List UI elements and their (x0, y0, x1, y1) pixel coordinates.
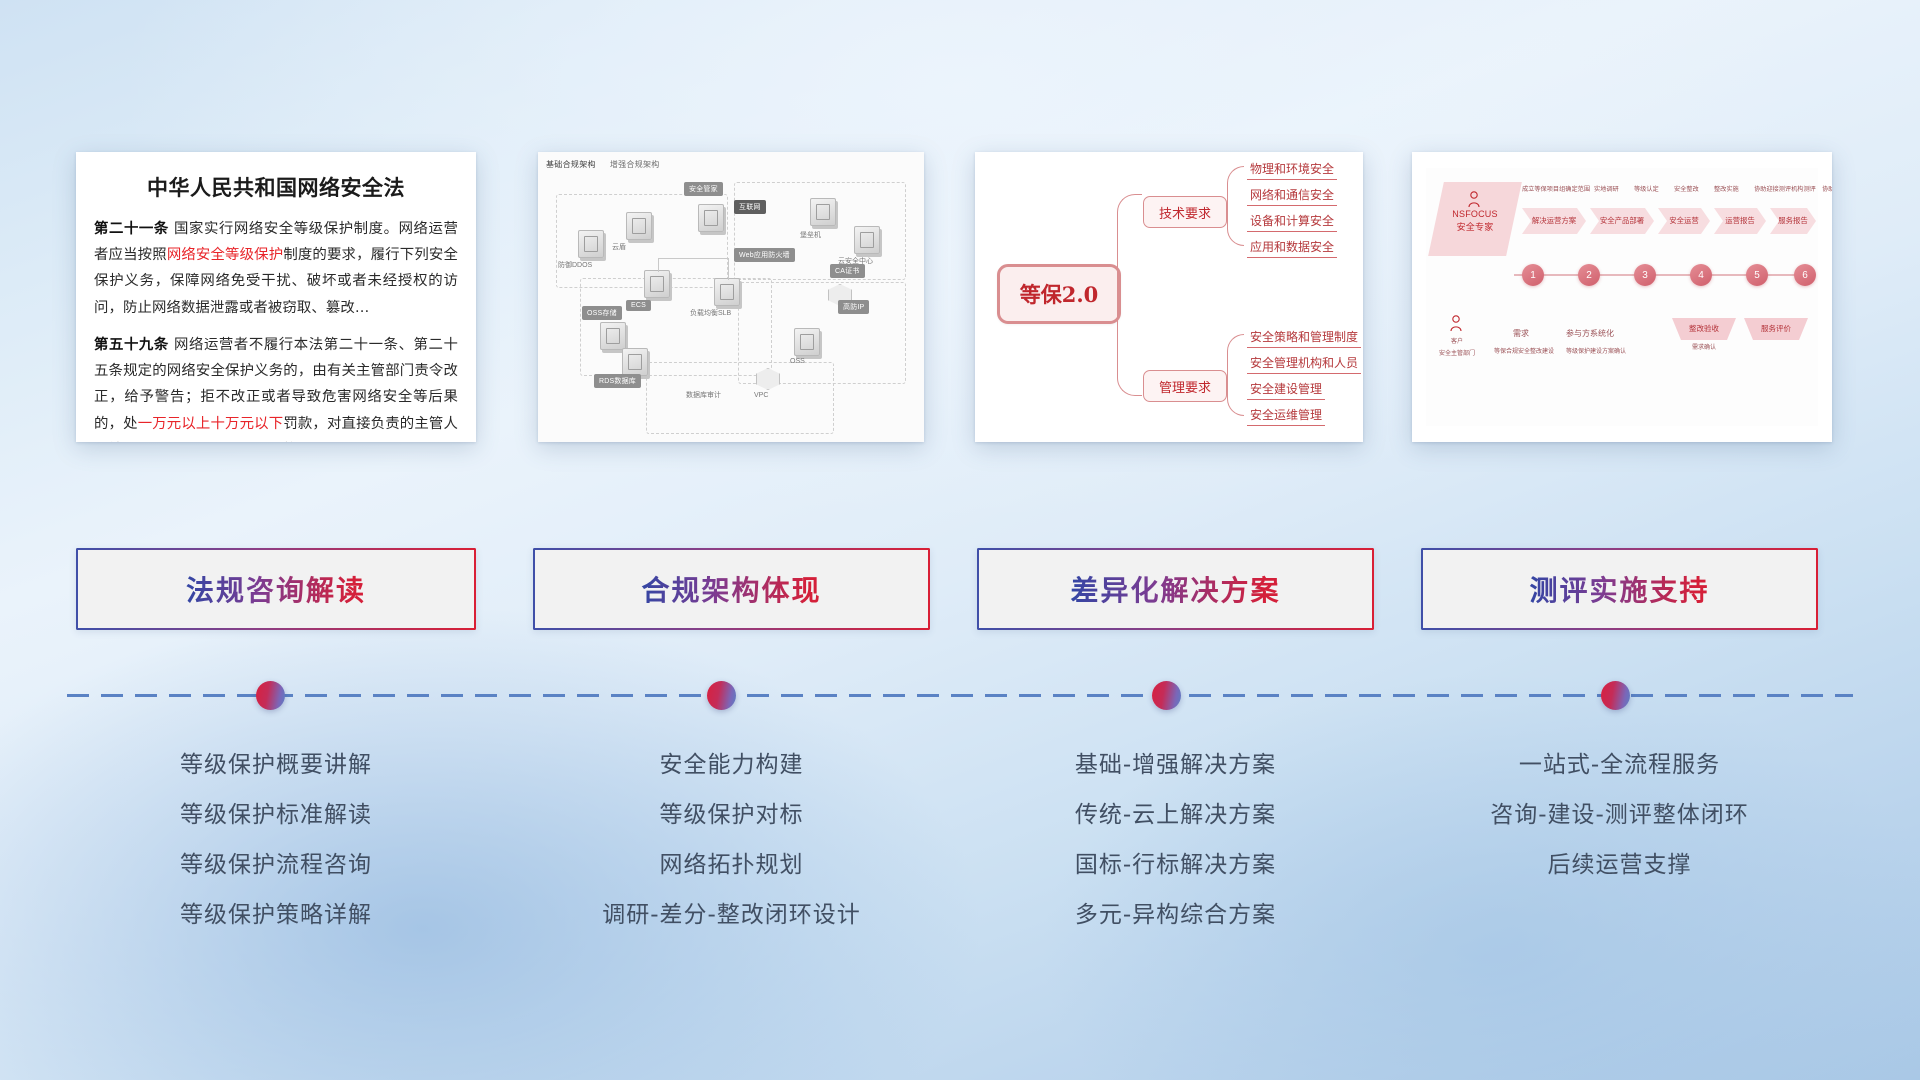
arch-node-icon-10 (622, 348, 648, 376)
list-item: 网络拓扑规划 (533, 840, 930, 890)
nsfocus-chevron-1: 解决运营方案 (1522, 208, 1586, 234)
nsfocus-step-node-3: 3 (1634, 264, 1656, 286)
arch-label-oss: OSS (790, 358, 805, 365)
tab-basic-compliance[interactable]: 基础合规架构 (546, 160, 596, 169)
mindmap-leaf-tech-2: 网络和通信安全 (1247, 186, 1337, 206)
arch-node-icon-1 (626, 212, 652, 240)
arch-label-oss-store: OSS存储 (582, 306, 622, 320)
law-p21-highlight: 网络安全等级保护 (167, 247, 284, 263)
mindmap-card[interactable]: 等保2.0 技术要求 管理要求 物理和环境安全 网络和通信安全 设备和计算安全 … (975, 152, 1363, 442)
arch-label-bastion: 堡垒机 (800, 230, 821, 240)
law-article-label-59: 第五十九条 (94, 337, 169, 353)
law-p59-highlight-1: 一万元以上十万元以下 (138, 416, 284, 432)
nsfocus-lower-note-1: 等保合规安全整改建设 (1494, 346, 1554, 355)
nsfocus-step-node-1: 1 (1522, 264, 1544, 286)
law-card-body: 中华人民共和国网络安全法 第二十一条 国家实行网络安全等级保护制度。网络运营者应… (76, 152, 476, 442)
tab-enhanced-compliance[interactable]: 增强合规架构 (610, 160, 660, 169)
nsfocus-lower-chevron-note-1: 需求确认 (1672, 342, 1736, 351)
nsfocus-chevron-4: 运营报告 (1714, 208, 1766, 234)
list-item: 传统-云上解决方案 (977, 790, 1374, 840)
arch-zone-bottom (646, 362, 834, 434)
nsfocus-chevron-3: 安全运营 (1658, 208, 1710, 234)
mindmap-canvas: 等保2.0 技术要求 管理要求 物理和环境安全 网络和通信安全 设备和计算安全 … (975, 152, 1363, 442)
law-article-label-21: 第二十一条 (94, 221, 169, 237)
list-item: 基础-增强解决方案 (977, 740, 1374, 790)
list-item: 咨询-建设-测评整体闭环 (1421, 790, 1818, 840)
arch-node-icon-9 (600, 322, 626, 350)
nsfocus-top-step-4: 安全整改 (1674, 184, 1699, 193)
mindmap-leaf-mgmt-1: 安全策略和管理制度 (1247, 328, 1361, 348)
arch-node-icon-6 (644, 270, 670, 298)
nsfocus-top-step-2: 实地调研 (1594, 184, 1619, 193)
law-title: 中华人民共和国网络安全法 (94, 172, 458, 202)
section-heading-box-3[interactable]: 差异化解决方案 (977, 548, 1374, 630)
section-list-2: 安全能力构建 等级保护对标 网络拓扑规划 调研-差分-整改闭环设计 (533, 740, 930, 940)
nsfocus-step-node-2: 2 (1578, 264, 1600, 286)
list-item: 等级保护概要讲解 (76, 740, 476, 790)
nsfocus-top-step-1: 成立等保项目组确定范围 (1522, 184, 1590, 193)
nsfocus-step-node-5: 5 (1746, 264, 1768, 286)
arch-link-2 (658, 258, 728, 259)
section-list-1: 等级保护概要讲解 等级保护标准解读 等级保护流程咨询 等级保护策略详解 (76, 740, 476, 940)
image-card-row: 中华人民共和国网络安全法 第二十一条 国家实行网络安全等级保护制度。网络运营者应… (0, 0, 1920, 420)
timeline-dot-1[interactable] (256, 681, 285, 710)
list-item: 多元-异构综合方案 (977, 890, 1374, 940)
arch-label-slb: 负载均衡SLB (690, 308, 731, 318)
list-item: 后续运营支撑 (1421, 840, 1818, 890)
list-item: 等级保护策略详解 (76, 890, 476, 940)
list-item: 等级保护流程咨询 (76, 840, 476, 890)
mindmap-leaf-tech-4: 应用和数据安全 (1247, 238, 1337, 258)
arch-node-icon-3 (578, 230, 604, 258)
arch-label-vpc: VPC (754, 392, 768, 399)
arch-node-icon-5 (854, 226, 880, 254)
nsfocus-panel: NSFOCUS 安全专家 成立等保项目组确定范围 实地调研 等级认定 安全整改 … (1426, 168, 1818, 426)
arch-label-waf: Web应用防火墙 (734, 248, 795, 262)
arch-node-icon-2 (698, 204, 724, 232)
timeline-dot-3[interactable] (1152, 681, 1181, 710)
arch-badge-internet: 互联网 (734, 200, 766, 214)
arch-label-security-manager: 安全管家 (684, 182, 723, 196)
mindmap-tech-curve (1227, 166, 1244, 246)
arch-label-antiddos-ip: 高防IP (838, 300, 869, 314)
arch-node-icon-7 (714, 278, 740, 306)
arch-label-db-audit: 数据库审计 (686, 390, 721, 400)
nsfocus-top-steps: 成立等保项目组确定范围 实地调研 等级认定 安全整改 整改实施 协助迎接测评机构… (1522, 184, 1810, 200)
list-item: 安全能力构建 (533, 740, 930, 790)
mindmap-leaf-mgmt-3: 安全建设管理 (1247, 380, 1325, 400)
nsfocus-canvas: NSFOCUS 安全专家 成立等保项目组确定范围 实地调研 等级认定 安全整改 … (1412, 152, 1832, 442)
timeline-dot-4[interactable] (1601, 681, 1630, 710)
law-text-card[interactable]: 中华人民共和国网络安全法 第二十一条 国家实行网络安全等级保护制度。网络运营者应… (76, 152, 476, 442)
arch-link-1 (658, 258, 659, 272)
arch-label-ca: CA证书 (830, 264, 865, 278)
section-heading-2: 合规架构体现 (641, 569, 821, 609)
arch-label-rds: RDS数据库 (594, 374, 641, 388)
nsfocus-step-node-4: 4 (1690, 264, 1712, 286)
nsfocus-chevron-2: 安全产品部署 (1590, 208, 1654, 234)
nsfocus-lower-chevron-2: 服务评价 (1744, 318, 1808, 340)
section-list-4: 一站式-全流程服务 咨询-建设-测评整体闭环 后续运营支撑 (1421, 740, 1818, 890)
mindmap-leaf-tech-1: 物理和环境安全 (1247, 160, 1337, 180)
mindmap-mgmt-curve (1227, 334, 1244, 416)
law-paragraph-59: 第五十九条 网络运营者不履行本法第二十一条、第二十五条规定的网络安全保护义务的，… (94, 332, 458, 442)
architecture-diagram-card[interactable]: 基础合规架构增强合规架构 互联网 云盾 安全管家 防御DDOS 堡垒机 云安全中… (538, 152, 924, 442)
poster-stage: 中华人民共和国网络安全法 第二十一条 国家实行网络安全等级保护制度。网络运营者应… (0, 0, 1920, 1080)
architecture-canvas: 基础合规架构增强合规架构 互联网 云盾 安全管家 防御DDOS 堡垒机 云安全中… (538, 152, 924, 442)
nsfocus-top-step-5: 整改实施 (1714, 184, 1739, 193)
section-list-3: 基础-增强解决方案 传统-云上解决方案 国标-行标解决方案 多元-异构综合方案 (977, 740, 1374, 940)
nsfocus-step-node-6: 6 (1794, 264, 1816, 286)
architecture-tabs: 基础合规架构增强合规架构 (546, 159, 660, 170)
mindmap-leaf-tech-3: 设备和计算安全 (1247, 212, 1337, 232)
section-heading-1: 法规咨询解读 (186, 569, 366, 609)
nsfocus-lower-chevron-1: 整改验收 (1672, 318, 1736, 340)
list-item: 等级保护对标 (533, 790, 930, 840)
section-heading-box-1[interactable]: 法规咨询解读 (76, 548, 476, 630)
client-icon (1448, 314, 1464, 332)
mindmap-root-node: 等保2.0 (997, 264, 1121, 324)
timeline-dot-2[interactable] (707, 681, 736, 710)
arch-label-ecs: ECS (626, 300, 651, 311)
mindmap-branch-management: 管理要求 (1143, 370, 1227, 402)
arch-node-icon-4 (810, 198, 836, 226)
nsfocus-brand-name: NSFOCUS (1442, 208, 1508, 221)
list-item: 等级保护标准解读 (76, 790, 476, 840)
nsfocus-top-step-7: 协助客户完成运营并持续改进 (1822, 184, 1832, 193)
nsfocus-client-label: 客户 (1434, 336, 1480, 345)
nsfocus-lower-note-2: 等级保护建设方案确认 (1562, 346, 1630, 355)
security-expert-icon (1466, 190, 1482, 208)
arch-node-icon-8 (794, 328, 820, 356)
mindmap-branch-technical: 技术要求 (1143, 196, 1227, 228)
mindmap-leaf-mgmt-2: 安全管理机构和人员 (1247, 354, 1361, 374)
list-item: 调研-差分-整改闭环设计 (533, 890, 930, 940)
section-heading-4: 测评实施支持 (1529, 569, 1709, 609)
section-heading-box-2[interactable]: 合规架构体现 (533, 548, 930, 630)
nsfocus-brand-sub: 安全专家 (1442, 221, 1508, 234)
list-item: 国标-行标解决方案 (977, 840, 1374, 890)
service-timeline-card[interactable]: NSFOCUS 安全专家 成立等保项目组确定范围 实地调研 等级认定 安全整改 … (1412, 152, 1832, 442)
arch-link-3 (728, 258, 729, 280)
nsfocus-lower-label-2: 参与方系统化 (1552, 328, 1628, 339)
list-item: 一站式-全流程服务 (1421, 740, 1818, 790)
nsfocus-top-step-6: 协助迎接测评机构测评 (1754, 184, 1816, 193)
nsfocus-client-sub: 安全主管部门 (1426, 348, 1488, 357)
mindmap-leaf-mgmt-4: 安全运维管理 (1247, 406, 1325, 426)
nsfocus-lower-label-1: 需求 (1498, 328, 1544, 339)
nsfocus-top-step-3: 等级认定 (1634, 184, 1659, 193)
section-heading-box-4[interactable]: 测评实施支持 (1421, 548, 1818, 630)
nsfocus-brand-text: NSFOCUS 安全专家 (1442, 208, 1508, 234)
mindmap-root-curve (1117, 194, 1142, 396)
section-heading-3: 差异化解决方案 (1070, 569, 1280, 609)
arch-label-yundun: 云盾 (612, 242, 626, 252)
nsfocus-chevron-5: 服务报告 (1770, 208, 1816, 234)
law-paragraph-21: 第二十一条 国家实行网络安全等级保护制度。网络运营者应当按照网络安全等级保护制度… (94, 216, 458, 321)
timeline-dashed-line (67, 694, 1853, 697)
arch-label-ddos: 防御DDOS (558, 260, 592, 270)
